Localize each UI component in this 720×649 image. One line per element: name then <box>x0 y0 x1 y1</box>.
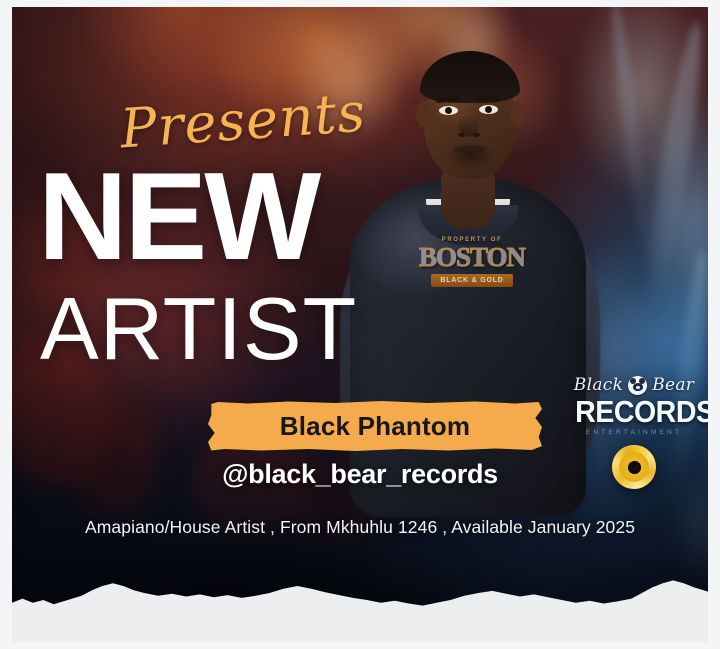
portrait-pupil <box>445 107 452 114</box>
artist-name-label: Black Phantom <box>280 411 470 442</box>
sweatshirt-main-text: BOSTON <box>414 244 530 271</box>
portrait-pupil <box>485 106 492 113</box>
tagline-label: Amapiano/House Artist , From Mkhuhlu 124… <box>12 517 708 538</box>
portrait-eye-right <box>479 105 498 114</box>
logo-script-row: Black Bear <box>570 375 698 395</box>
portrait-nostril-left <box>458 133 465 137</box>
bear-face-icon <box>628 376 647 395</box>
portrait-eye-left <box>439 106 458 115</box>
portrait-mouth <box>455 146 485 153</box>
portrait-beard <box>436 139 504 179</box>
portrait-ear-left <box>416 101 430 127</box>
artist-name-banner: Black Phantom <box>208 401 542 451</box>
headline-line-artist: ARTIST <box>40 289 357 368</box>
promo-poster: PROPERTY OF BOSTON BLACK & GOLD Presents… <box>0 0 720 649</box>
logo-word-bear: Bear <box>652 375 694 395</box>
portrait-nostril-right <box>473 133 480 137</box>
sweatshirt-graphic: PROPERTY OF BOSTON BLACK & GOLD <box>414 237 530 329</box>
vinyl-record-icon <box>612 445 656 489</box>
logo-records-label: RECORDS <box>575 396 693 427</box>
bear-muzzle-shape <box>633 383 643 391</box>
logo-subtitle-label: ENTERTAINMENT <box>570 429 698 436</box>
logo-word-black: Black <box>574 375 623 395</box>
portrait-ear-right <box>510 101 524 127</box>
poster-canvas: PROPERTY OF BOSTON BLACK & GOLD Presents… <box>12 7 708 642</box>
record-label-logo: Black Bear RECORDS ENTERTAINMENT <box>570 375 698 503</box>
headline-line-new: NEW <box>38 165 318 269</box>
portrait-hair <box>420 51 520 103</box>
sweatshirt-bar-text: BLACK & GOLD <box>431 274 513 287</box>
